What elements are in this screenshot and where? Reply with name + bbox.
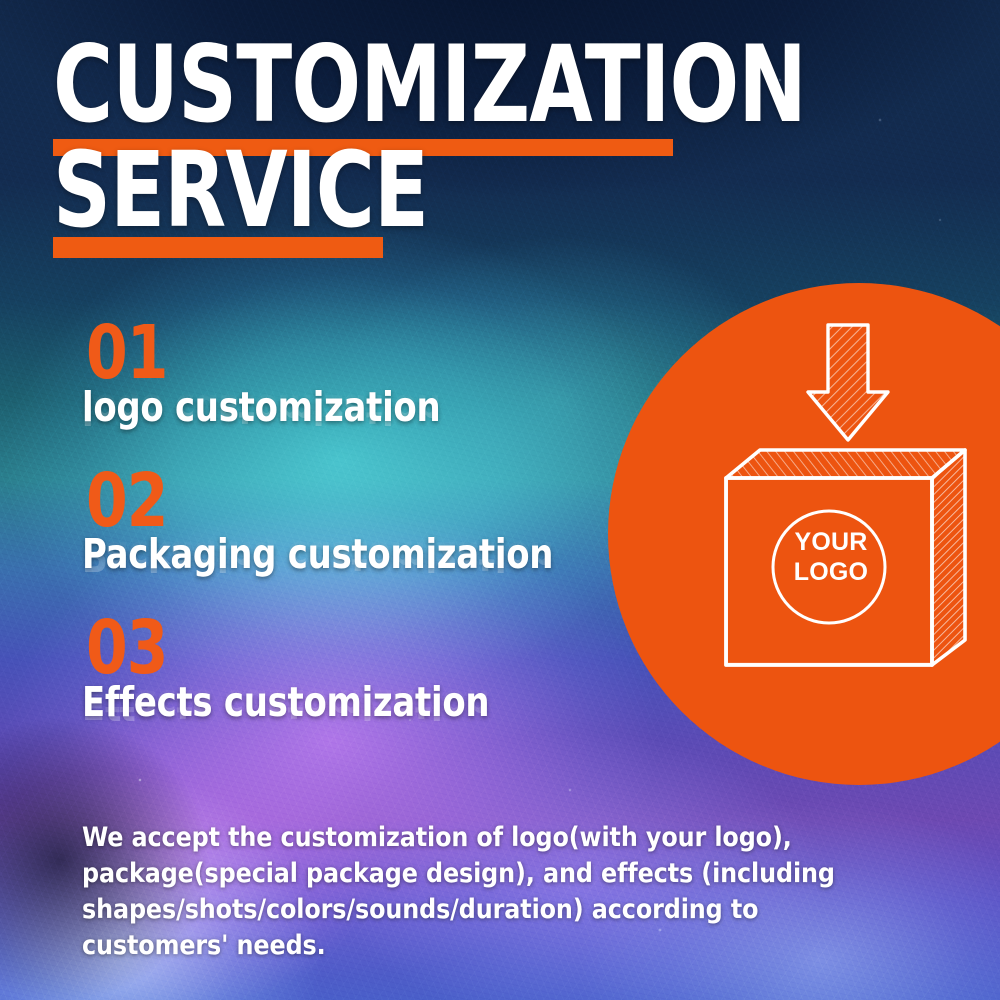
service-number-02: 02 xyxy=(86,470,568,534)
service-label-wrap-02: Packaging customization Packaging custom… xyxy=(82,533,622,595)
service-item-02: 02 Packaging customization Packaging cus… xyxy=(82,470,622,596)
service-label-02-reflection: Packaging customization xyxy=(82,535,553,578)
service-item-03: 03 Effects customization Effects customi… xyxy=(82,617,622,743)
your-logo-line-1: YOUR xyxy=(775,528,887,558)
service-list: 01 logo customization logo customization… xyxy=(82,322,622,743)
your-logo-line-2: LOGO xyxy=(775,558,887,588)
headline-line-2: SERVICE xyxy=(53,146,753,242)
service-label-wrap-01: logo customization logo customization xyxy=(82,386,622,448)
service-label-01-reflection: logo customization xyxy=(82,387,440,430)
service-label-wrap-03: Effects customization Effects customizat… xyxy=(82,681,622,743)
headline-block: CUSTOMIZATION SERVICE xyxy=(53,40,753,242)
service-number-01: 01 xyxy=(86,322,568,386)
headline-title-line-2: SERVICE xyxy=(53,138,428,242)
service-number-03: 03 xyxy=(86,617,568,681)
promo-poster: CUSTOMIZATION SERVICE 01 logo customizat… xyxy=(0,0,1000,1000)
down-arrow-icon xyxy=(808,325,888,440)
body-paragraph: We accept the customization of logo(with… xyxy=(82,820,850,964)
service-label-03-reflection: Effects customization xyxy=(82,682,489,725)
headline-title-line-1: CUSTOMIZATION xyxy=(53,32,806,138)
headline-line-1: CUSTOMIZATION xyxy=(53,40,753,140)
service-item-01: 01 logo customization logo customization xyxy=(82,322,622,448)
your-logo-label: YOUR LOGO xyxy=(775,528,887,587)
